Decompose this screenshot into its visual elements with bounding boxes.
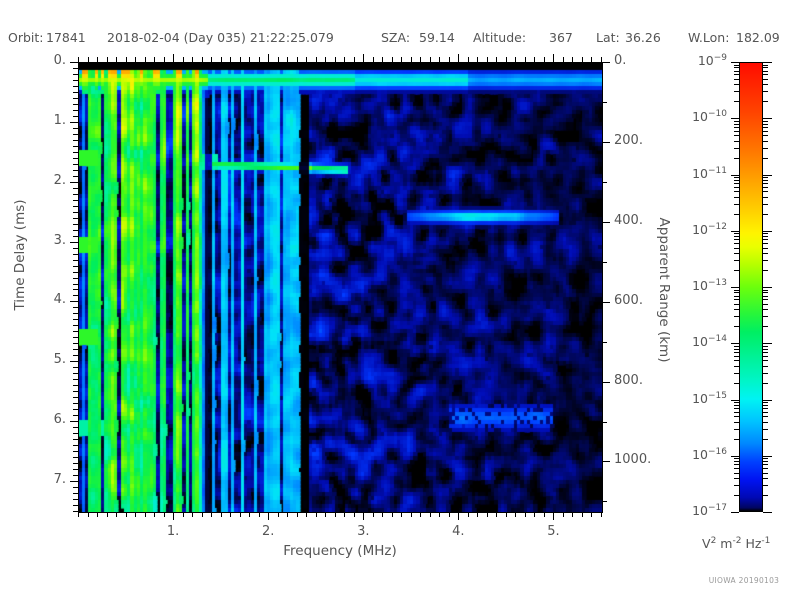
x-tick-minor (126, 512, 127, 517)
unit-m: m-2 (720, 536, 741, 551)
y-right-tick-minor (602, 262, 607, 263)
x-tick-minor (420, 512, 421, 517)
colorbar-tick-label: 10−11 (692, 166, 727, 181)
y-left-tick-minor (73, 355, 78, 356)
colorbar-tick-minor (763, 402, 768, 403)
colorbar-tick-minor (734, 148, 739, 149)
colorbar-tick-major (763, 512, 772, 513)
colorbar-tick-minor (734, 121, 739, 122)
colorbar-tick-minor (734, 243, 739, 244)
y-right-tick-major (602, 461, 610, 462)
colorbar-tick-minor (734, 349, 739, 350)
y-left-tick-label: 5. (54, 352, 66, 367)
colorbar-tick-minor (763, 135, 768, 136)
y-left-tick-minor (73, 158, 78, 159)
x-tick-minor-top (249, 57, 250, 62)
colorbar-tick-major (763, 62, 772, 63)
x-tick-minor-top (439, 57, 440, 62)
colorbar-tick-minor (763, 316, 768, 317)
colorbar-tick-minor (763, 233, 768, 234)
colorbar-tick-label: 10−13 (692, 278, 727, 293)
x-tick-minor (107, 512, 108, 517)
x-tick-major (268, 512, 269, 520)
colorbar-tick-minor (734, 84, 739, 85)
x-tick-minor (240, 512, 241, 517)
x-tick-minor (116, 512, 117, 517)
colorbar-tick-minor (734, 270, 739, 271)
y-right-tick-major (602, 302, 610, 303)
header-orbit: Orbit: (8, 30, 44, 45)
x-tick-minor (477, 512, 478, 517)
y-left-tick-minor (73, 110, 78, 111)
y-left-tick-minor (73, 319, 78, 320)
unit-hz: Hz-1 (745, 536, 770, 551)
colorbar-tick-major (731, 512, 739, 513)
x-tick-minor-top (392, 57, 393, 62)
colorbar-tick-label: 10−10 (692, 109, 727, 124)
x-tick-minor (373, 512, 374, 517)
colorbar-tick-minor (734, 141, 739, 142)
header-altitude: Altitude: (473, 30, 526, 45)
colorbar-tick-major (763, 287, 772, 288)
y-right-tick-minor (602, 102, 607, 103)
y-left-tick-label: 3. (54, 233, 66, 248)
colorbar-tick-minor (763, 352, 768, 353)
header-wlon-value: 182.09 (736, 30, 780, 45)
y-left-tick-minor (73, 493, 78, 494)
x-tick-minor (154, 512, 155, 517)
x-tick-minor-top (230, 57, 231, 62)
colorbar-tick-major (731, 118, 739, 119)
x-tick-minor-top (211, 57, 212, 62)
y-right-tick-minor (602, 182, 607, 183)
y-left-tick-minor (73, 451, 78, 452)
x-tick-minor-top (401, 57, 402, 62)
colorbar-tick-minor (763, 197, 768, 198)
x-tick-minor-top (515, 57, 516, 62)
colorbar-tick-minor (734, 468, 739, 469)
colorbar-tick-major (763, 118, 772, 119)
x-tick-minor-top (287, 57, 288, 62)
x-tick-major (458, 512, 459, 520)
x-tick-minor (221, 512, 222, 517)
y-left-tick-minor (73, 427, 78, 428)
x-tick-minor-top (192, 57, 193, 62)
y-left-tick-minor (73, 349, 78, 350)
x-tick-minor (401, 512, 402, 517)
y-axis-right-title: Apparent Range (km) (656, 218, 672, 363)
header-wlon: W.Lon: (688, 30, 729, 45)
colorbar-tick-minor (734, 299, 739, 300)
x-tick-minor-top (278, 57, 279, 62)
colorbar-tick-minor (734, 180, 739, 181)
colorbar-tick-minor (763, 127, 768, 128)
x-tick-minor-top (591, 57, 592, 62)
y-right-tick-minor (602, 501, 607, 502)
x-tick-minor-top (496, 57, 497, 62)
x-tick-minor (249, 512, 250, 517)
x-tick-minor (145, 512, 146, 517)
colorbar-tick-minor (734, 71, 739, 72)
colorbar-tick-minor (734, 309, 739, 310)
x-tick-minor (192, 512, 193, 517)
x-tick-label: 2. (262, 524, 274, 539)
colorbar-tick-minor (734, 405, 739, 406)
y-right-tick-label: 600. (614, 293, 643, 308)
y-left-tick-major (70, 421, 78, 422)
colorbar-tick-minor (763, 346, 768, 347)
colorbar-tick-minor (763, 141, 768, 142)
x-tick-minor-top (430, 57, 431, 62)
x-tick-minor-top (335, 57, 336, 62)
colorbar-tick-major (763, 175, 772, 176)
x-tick-minor-top (420, 57, 421, 62)
y-left-tick-minor (73, 295, 78, 296)
colorbar-tick-minor (763, 478, 768, 479)
colorbar-tick-minor (763, 408, 768, 409)
colorbar-tick-label: 10−14 (692, 334, 727, 349)
y-axis-left-title: Time Delay (ms) (12, 199, 28, 310)
colorbar-tick-minor (734, 127, 739, 128)
ionogram-plot-page: Orbit: 17841 2018-02-04 (Day 035) 21:22:… (0, 0, 800, 600)
colorbar-tick-minor (734, 461, 739, 462)
y-left-tick-label: 0. (54, 53, 66, 68)
x-tick-minor-top (525, 57, 526, 62)
colorbar-tick-minor (763, 412, 768, 413)
colorbar-tick-minor (763, 204, 768, 205)
y-left-tick-minor (73, 152, 78, 153)
y-right-tick-major (602, 142, 610, 143)
header-datetime: 2018-02-04 (Day 035) 21:22:25.079 (107, 30, 334, 45)
colorbar-tick-minor (763, 326, 768, 327)
y-right-tick-minor (602, 342, 607, 343)
colorbar-tick-label: 10−17 (692, 503, 727, 518)
colorbar-tick-minor (734, 402, 739, 403)
y-left-tick-minor (73, 373, 78, 374)
x-tick-minor-top (107, 57, 108, 62)
y-left-tick-minor (73, 391, 78, 392)
y-right-tick-minor (602, 422, 607, 423)
x-tick-minor (354, 512, 355, 517)
y-left-tick-minor (73, 80, 78, 81)
x-tick-minor (392, 512, 393, 517)
colorbar-tick-minor (734, 233, 739, 234)
x-tick-minor-top (135, 57, 136, 62)
x-tick-major-top (268, 54, 269, 62)
y-left-tick-minor (73, 463, 78, 464)
y-left-tick-minor (73, 98, 78, 99)
y-left-tick-minor (73, 505, 78, 506)
y-left-tick-minor (73, 499, 78, 500)
y-left-tick-minor (73, 92, 78, 93)
colorbar-tick-minor (734, 158, 739, 159)
colorbar-tick-minor (763, 101, 768, 102)
colorbar-tick-minor (734, 74, 739, 75)
x-tick-minor-top (154, 57, 155, 62)
colorbar-tick-major (731, 400, 739, 401)
y-right-tick-major (602, 62, 610, 63)
footer-credit: UIOWA 20190103 (709, 576, 780, 585)
radargram-plot-area (78, 62, 603, 513)
y-left-tick-major (70, 62, 78, 63)
colorbar-tick-minor (763, 177, 768, 178)
x-tick-minor-top (506, 57, 507, 62)
y-left-tick-minor (73, 176, 78, 177)
colorbar-tick-minor (763, 124, 768, 125)
y-left-tick-minor (73, 397, 78, 398)
colorbar-tick-major (731, 287, 739, 288)
y-left-tick-minor (73, 194, 78, 195)
colorbar-tick-minor (763, 214, 768, 215)
colorbar-tick-minor (763, 131, 768, 132)
y-left-tick-minor (73, 385, 78, 386)
colorbar-tick-minor (763, 148, 768, 149)
colorbar-tick-minor (763, 416, 768, 417)
colorbar-tick-minor (734, 67, 739, 68)
x-tick-minor-top (468, 57, 469, 62)
y-left-tick-minor (73, 266, 78, 267)
colorbar-tick-minor (734, 124, 739, 125)
header-lat-value: 36.26 (625, 30, 661, 45)
colorbar-units-label: V2 m-2 Hz-1 (702, 536, 770, 551)
colorbar-tick-minor (734, 360, 739, 361)
colorbar-tick-major (763, 456, 772, 457)
x-tick-minor (515, 512, 516, 517)
x-tick-minor (297, 512, 298, 517)
y-right-tick-label: 200. (614, 133, 643, 148)
colorbar-tick-minor (763, 84, 768, 85)
x-tick-minor (344, 512, 345, 517)
colorbar-tick-minor (763, 366, 768, 367)
x-axis-title: Frequency (MHz) (283, 543, 396, 559)
colorbar-tick-minor (734, 383, 739, 384)
y-left-tick-major (70, 361, 78, 362)
x-tick-minor-top (240, 57, 241, 62)
y-left-tick-major (70, 301, 78, 302)
y-left-tick-minor (73, 487, 78, 488)
y-left-tick-minor (73, 313, 78, 314)
colorbar-tick-major (731, 456, 739, 457)
x-tick-minor (230, 512, 231, 517)
x-tick-minor-top (145, 57, 146, 62)
x-tick-minor (468, 512, 469, 517)
x-tick-minor-top (563, 57, 564, 62)
x-tick-minor (202, 512, 203, 517)
x-tick-label: 3. (357, 524, 369, 539)
x-tick-minor (534, 512, 535, 517)
x-tick-minor (287, 512, 288, 517)
y-left-tick-minor (73, 433, 78, 434)
y-left-tick-major (70, 481, 78, 482)
x-tick-minor (325, 512, 326, 517)
colorbar-tick-minor (763, 439, 768, 440)
colorbar-tick-minor (734, 197, 739, 198)
header-sza-value: 59.14 (419, 30, 455, 45)
y-left-tick-minor (73, 134, 78, 135)
colorbar-tick-minor (763, 292, 768, 293)
colorbar-tick-minor (734, 439, 739, 440)
colorbar-tick-minor (763, 485, 768, 486)
colorbar-tick-minor (734, 422, 739, 423)
x-tick-major-top (363, 54, 364, 62)
colorbar-tick-minor (763, 65, 768, 66)
colorbar-tick-minor (763, 429, 768, 430)
y-left-tick-label: 6. (54, 412, 66, 427)
colorbar-tick-major (763, 400, 772, 401)
colorbar-tick-minor (763, 309, 768, 310)
colorbar-tick-minor (763, 236, 768, 237)
colorbar-tick-minor (763, 253, 768, 254)
x-tick-minor (382, 512, 383, 517)
y-left-tick-minor (73, 170, 78, 171)
colorbar-tick-minor (763, 461, 768, 462)
x-tick-minor (544, 512, 545, 517)
x-tick-minor (525, 512, 526, 517)
y-left-tick-minor (73, 74, 78, 75)
x-tick-minor-top (534, 57, 535, 62)
x-tick-minor (335, 512, 336, 517)
colorbar-tick-minor (763, 349, 768, 350)
colorbar-tick-minor (763, 79, 768, 80)
colorbar-tick-minor (734, 316, 739, 317)
colorbar-tick-minor (734, 356, 739, 357)
x-tick-minor-top (316, 57, 317, 62)
colorbar-tick-minor (763, 304, 768, 305)
y-left-tick-label: 7. (54, 472, 66, 487)
colorbar-tick-minor (734, 260, 739, 261)
x-tick-minor-top (344, 57, 345, 62)
colorbar-tick-minor (734, 296, 739, 297)
x-tick-minor-top (126, 57, 127, 62)
y-left-tick-minor (73, 254, 78, 255)
colorbar-tick-minor (734, 346, 739, 347)
x-tick-minor (183, 512, 184, 517)
colorbar-tick-minor (734, 429, 739, 430)
y-right-tick-label: 400. (614, 213, 643, 228)
y-left-tick-minor (73, 128, 78, 129)
y-left-tick-minor (73, 140, 78, 141)
colorbar-tick-minor (734, 135, 739, 136)
x-tick-minor-top (382, 57, 383, 62)
colorbar-tick-minor (763, 67, 768, 68)
y-left-tick-major (70, 182, 78, 183)
y-left-tick-minor (73, 367, 78, 368)
x-tick-minor-top (221, 57, 222, 62)
y-left-tick-minor (73, 415, 78, 416)
colorbar-tick-minor (763, 290, 768, 291)
colorbar-tick-minor (763, 299, 768, 300)
y-left-tick-minor (73, 104, 78, 105)
x-tick-minor (259, 512, 260, 517)
colorbar-tick-minor (734, 412, 739, 413)
colorbar-tick-minor (734, 253, 739, 254)
x-tick-minor (563, 512, 564, 517)
header-orbit-value: 17841 (46, 30, 86, 45)
colorbar-tick-minor (763, 121, 768, 122)
colorbar-tick-label: 10−15 (692, 391, 727, 406)
colorbar-tick-minor (763, 158, 768, 159)
y-left-tick-minor (73, 212, 78, 213)
y-left-tick-minor (73, 224, 78, 225)
colorbar-tick-minor (734, 352, 739, 353)
colorbar-tick-minor (763, 458, 768, 459)
x-tick-major-top (458, 54, 459, 62)
y-left-tick-minor (73, 457, 78, 458)
colorbar-tick-minor (734, 177, 739, 178)
colorbar-tick-minor (763, 91, 768, 92)
colorbar-tick-minor (763, 468, 768, 469)
x-tick-minor (582, 512, 583, 517)
x-tick-minor-top (297, 57, 298, 62)
y-left-tick-minor (73, 146, 78, 147)
x-tick-label: 5. (547, 524, 559, 539)
y-left-tick-minor (73, 379, 78, 380)
x-tick-minor (601, 512, 602, 517)
y-left-tick-minor (73, 230, 78, 231)
colorbar-tick-minor (763, 383, 768, 384)
y-left-tick-minor (73, 337, 78, 338)
y-left-tick-minor (73, 307, 78, 308)
colorbar-tick-major (731, 62, 739, 63)
x-tick-minor-top (97, 57, 98, 62)
colorbar-tick-minor (763, 296, 768, 297)
y-left-tick-minor (73, 278, 78, 279)
x-tick-minor (78, 512, 79, 517)
colorbar-tick-major (763, 231, 772, 232)
y-left-tick-minor (73, 218, 78, 219)
y-left-tick-minor (73, 439, 78, 440)
x-tick-minor (88, 512, 89, 517)
colorbar-tick-minor (734, 187, 739, 188)
colorbar-tick-minor (763, 405, 768, 406)
y-left-tick-minor (73, 116, 78, 117)
x-tick-minor-top (373, 57, 374, 62)
x-tick-minor (278, 512, 279, 517)
x-tick-minor-top (183, 57, 184, 62)
radargram-heatmap-canvas (79, 63, 602, 512)
colorbar-tick-label: 10−16 (692, 447, 727, 462)
colorbar-tick-minor (763, 74, 768, 75)
colorbar-tick-minor (734, 79, 739, 80)
colorbar-tick-minor (763, 260, 768, 261)
header-metadata: Orbit: 17841 2018-02-04 (Day 035) 21:22:… (0, 30, 800, 50)
x-tick-minor (591, 512, 592, 517)
x-tick-major (363, 512, 364, 520)
colorbar-tick-minor (734, 191, 739, 192)
y-left-tick-minor (73, 164, 78, 165)
y-right-tick-label: 1000. (614, 452, 651, 467)
x-tick-minor-top (411, 57, 412, 62)
x-tick-minor (430, 512, 431, 517)
x-tick-minor (316, 512, 317, 517)
colorbar-tick-minor (763, 183, 768, 184)
x-tick-minor (496, 512, 497, 517)
y-left-tick-minor (73, 409, 78, 410)
y-right-tick-major (602, 382, 610, 383)
x-tick-label: 4. (452, 524, 464, 539)
y-left-tick-minor (73, 260, 78, 261)
colorbar-tick-minor (734, 326, 739, 327)
y-left-tick-minor (73, 272, 78, 273)
header-lat: Lat: (596, 30, 620, 45)
unit-v: V2 (702, 536, 716, 551)
colorbar-tick-minor (763, 180, 768, 181)
x-tick-minor-top (325, 57, 326, 62)
y-left-tick-minor (73, 200, 78, 201)
colorbar-tick-minor (763, 239, 768, 240)
x-tick-minor-top (572, 57, 573, 62)
x-tick-minor (211, 512, 212, 517)
